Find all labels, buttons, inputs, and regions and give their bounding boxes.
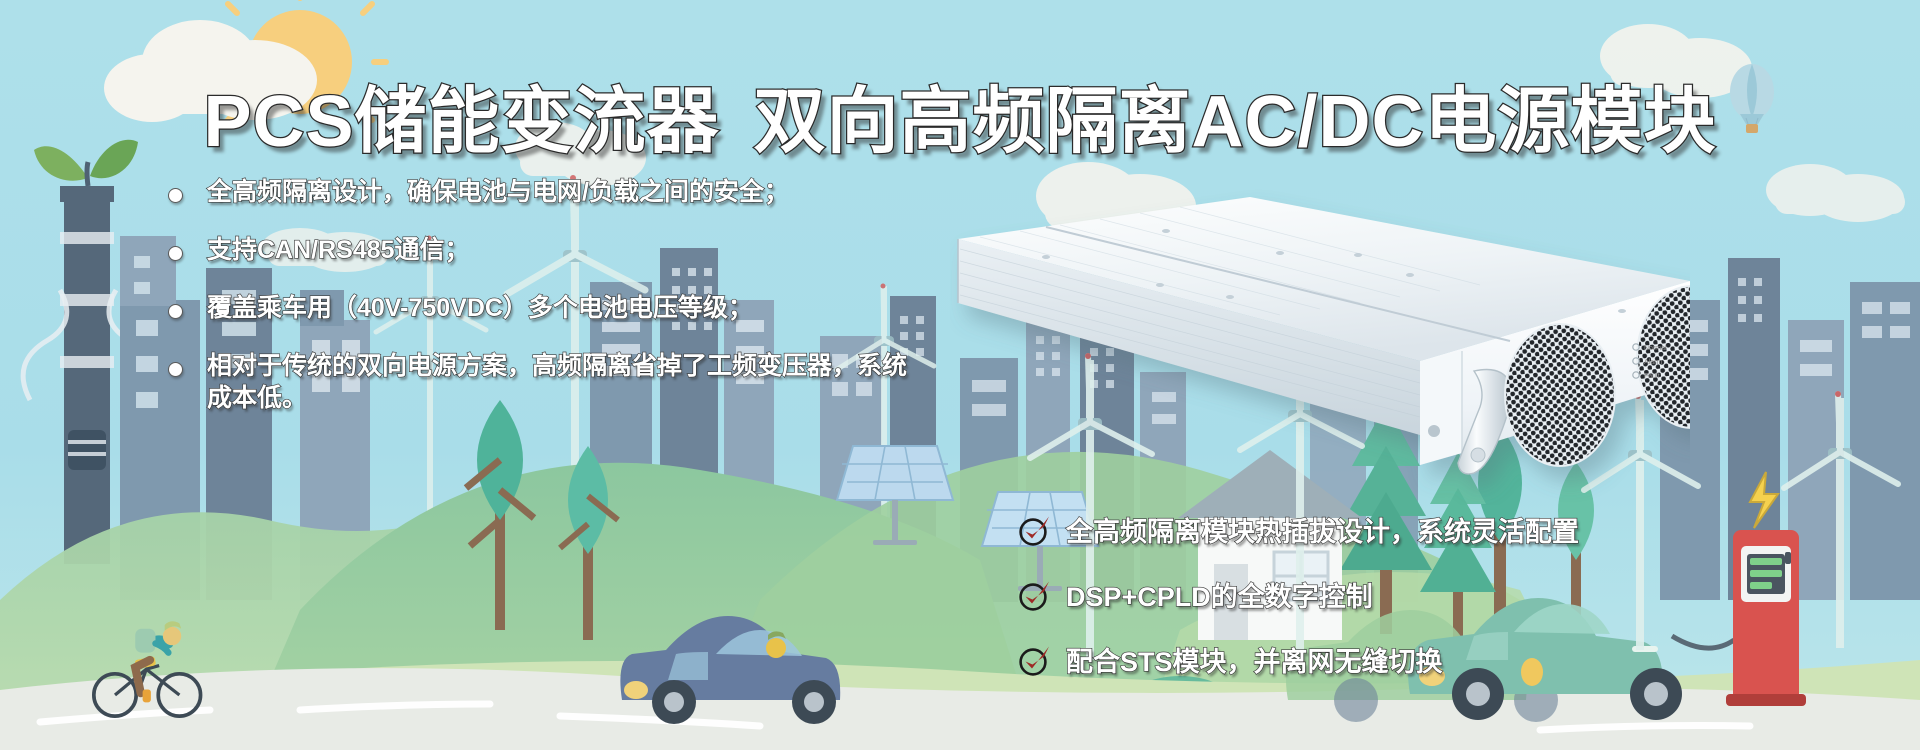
led-label-alarm: Alarm	[1644, 359, 1662, 366]
list-item: 配合STS模块，并离网无缝切换	[1018, 640, 1818, 679]
bullet-dot-icon	[168, 188, 183, 203]
check-circle-icon	[1018, 643, 1052, 677]
bullet-dot-icon	[168, 246, 183, 261]
led-label-normal: Normal	[1644, 345, 1667, 352]
feature-text: 全高频隔离设计，确保电池与电网/负载之间的安全；	[207, 176, 789, 208]
list-item: DSP+CPLD的全数字控制	[1018, 575, 1818, 614]
list-item: 全高频隔离设计，确保电池与电网/负载之间的安全；	[168, 176, 1028, 208]
feature-text: DSP+CPLD的全数字控制	[1066, 575, 1373, 614]
led-label-fault: Fault	[1644, 373, 1660, 380]
bullet-dot-icon	[168, 362, 183, 377]
feature-text: 全高频隔离模块热插拔设计，系统灵活配置	[1066, 510, 1579, 549]
title-part-2: 双向高频隔离AC/DC电源模块	[754, 62, 1717, 167]
check-circle-icon	[1018, 513, 1052, 547]
page-title: PCS储能变流器双向高频隔离AC/DC电源模块	[0, 62, 1920, 167]
list-item: 全高频隔离模块热插拔设计，系统灵活配置	[1018, 510, 1818, 549]
list-item: 覆盖乘车用（40V-750VDC）多个电池电压等级；	[168, 292, 1028, 324]
left-feature-list: 全高频隔离设计，确保电池与电网/负载之间的安全； 支持CAN/RS485通信； …	[168, 176, 1028, 440]
feature-text: 相对于传统的双向电源方案，高频隔离省掉了工频变压器，系统成本低。	[207, 350, 908, 414]
right-feature-list: 全高频隔离模块热插拔设计，系统灵活配置 DSP+CPLD的全数字控制 配合STS…	[1018, 510, 1818, 705]
title-part-1: PCS储能变流器	[203, 62, 719, 167]
list-item: 相对于传统的双向电源方案，高频隔离省掉了工频变压器，系统成本低。	[168, 350, 908, 414]
feature-text: 配合STS模块，并离网无缝切换	[1066, 640, 1443, 679]
feature-text: 支持CAN/RS485通信；	[207, 234, 470, 266]
product-banner: Normal Alarm Fault PCS储能变流器双向高频隔离AC/DC电源…	[0, 0, 1920, 750]
feature-text: 覆盖乘车用（40V-750VDC）多个电池电压等级；	[207, 292, 753, 324]
check-circle-icon	[1018, 578, 1052, 612]
list-item: 支持CAN/RS485通信；	[168, 234, 1028, 266]
product-device-image: Normal Alarm Fault	[950, 185, 1690, 505]
bullet-dot-icon	[168, 304, 183, 319]
